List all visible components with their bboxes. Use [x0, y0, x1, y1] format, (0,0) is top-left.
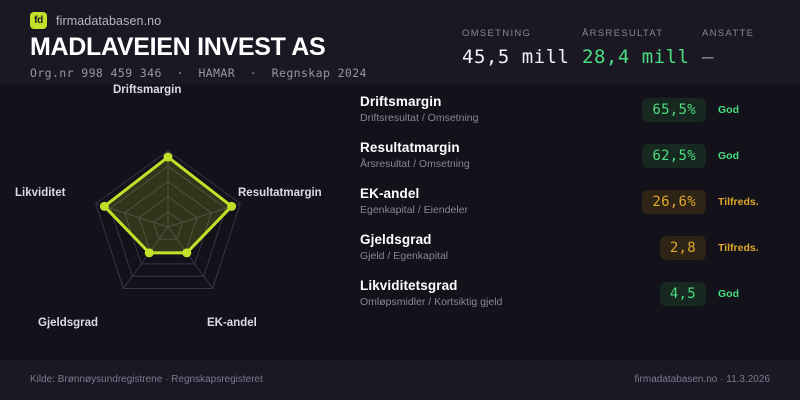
footer: Kilde: Brønnøysundregistrene · Regnskaps… [0, 360, 800, 400]
kpi-value: 45,5 mill [462, 46, 582, 68]
content: Driftsmargin Resultatmargin EK-andel Gje… [0, 84, 800, 360]
axis-label-likviditet: Likviditet [15, 187, 65, 199]
axis-label-ek-andel: EK-andel [207, 317, 257, 329]
ratio-value-group: 26,6% Tilfreds. [642, 190, 780, 214]
status-badge: Tilfreds. [706, 242, 780, 254]
ratio-row-driftsmargin: Driftsmargin Driftsresultat / Omsetning … [360, 94, 780, 140]
status-badge: God [706, 288, 780, 300]
kpi-value: – [702, 46, 772, 68]
ratio-value: 2,8 [660, 236, 706, 260]
ratio-row-likviditetsgrad: Likviditetsgrad Omløpsmidler / Kortsikti… [360, 278, 780, 324]
ratio-value: 65,5% [642, 98, 706, 122]
kpi-value: 28,4 mill [582, 46, 702, 68]
footer-source: Kilde: Brønnøysundregistrene · Regnskaps… [30, 374, 263, 385]
firmadatabasen-logo-icon: fd [30, 12, 47, 29]
radar-chart: Driftsmargin Resultatmargin EK-andel Gje… [0, 84, 350, 360]
ratio-value: 62,5% [642, 144, 706, 168]
brand-name: firmadatabasen.no [56, 14, 161, 28]
status-badge: God [706, 104, 780, 116]
radar-data-point [100, 202, 109, 211]
company-meta: Org.nr 998 459 346 · HAMAR · Regnskap 20… [30, 66, 367, 80]
kpi-arsresultat: ÅRSRESULTAT 28,4 mill [582, 28, 702, 68]
ratio-value: 4,5 [660, 282, 706, 306]
status-badge: God [706, 150, 780, 162]
ratio-value-group: 65,5% God [642, 98, 780, 122]
report-card: fd firmadatabasen.no MADLAVEIEN INVEST A… [0, 0, 800, 400]
kpi-group: OMSETNING 45,5 mill ÅRSRESULTAT 28,4 mil… [462, 28, 772, 68]
ratio-row-resultatmargin: Resultatmargin Årsresultat / Omsetning 6… [360, 140, 780, 186]
ratio-value-group: 4,5 God [660, 282, 780, 306]
header: fd firmadatabasen.no MADLAVEIEN INVEST A… [0, 0, 800, 84]
radar-data-point [145, 248, 154, 257]
status-badge: Tilfreds. [706, 196, 780, 208]
ratio-value: 26,6% [642, 190, 706, 214]
radar-data-point [164, 153, 173, 162]
ratio-list: Driftsmargin Driftsresultat / Omsetning … [360, 94, 780, 324]
axis-label-resultatmargin: Resultatmargin [238, 187, 322, 199]
axis-label-gjeldsgrad: Gjeldsgrad [38, 317, 98, 329]
brand[interactable]: fd firmadatabasen.no [30, 12, 161, 29]
ratio-value-group: 2,8 Tilfreds. [660, 236, 780, 260]
page-title: MADLAVEIEN INVEST AS [30, 33, 325, 62]
kpi-label: ANSATTE [702, 28, 772, 39]
ratio-row-ek-andel: EK-andel Egenkapital / Eiendeler 26,6% T… [360, 186, 780, 232]
ratio-value-group: 62,5% God [642, 144, 780, 168]
axis-label-driftsmargin: Driftsmargin [113, 84, 181, 96]
kpi-label: ÅRSRESULTAT [582, 28, 702, 39]
radar-data-point [182, 248, 191, 257]
radar-data-point [227, 202, 236, 211]
kpi-label: OMSETNING [462, 28, 582, 39]
kpi-ansatte: ANSATTE – [702, 28, 772, 68]
ratio-row-gjeldsgrad: Gjeldsgrad Gjeld / Egenkapital 2,8 Tilfr… [360, 232, 780, 278]
radar-series-area [104, 157, 231, 253]
footer-credit: firmadatabasen.no · 11.3.2026 [635, 374, 770, 385]
kpi-omsetning: OMSETNING 45,5 mill [462, 28, 582, 68]
